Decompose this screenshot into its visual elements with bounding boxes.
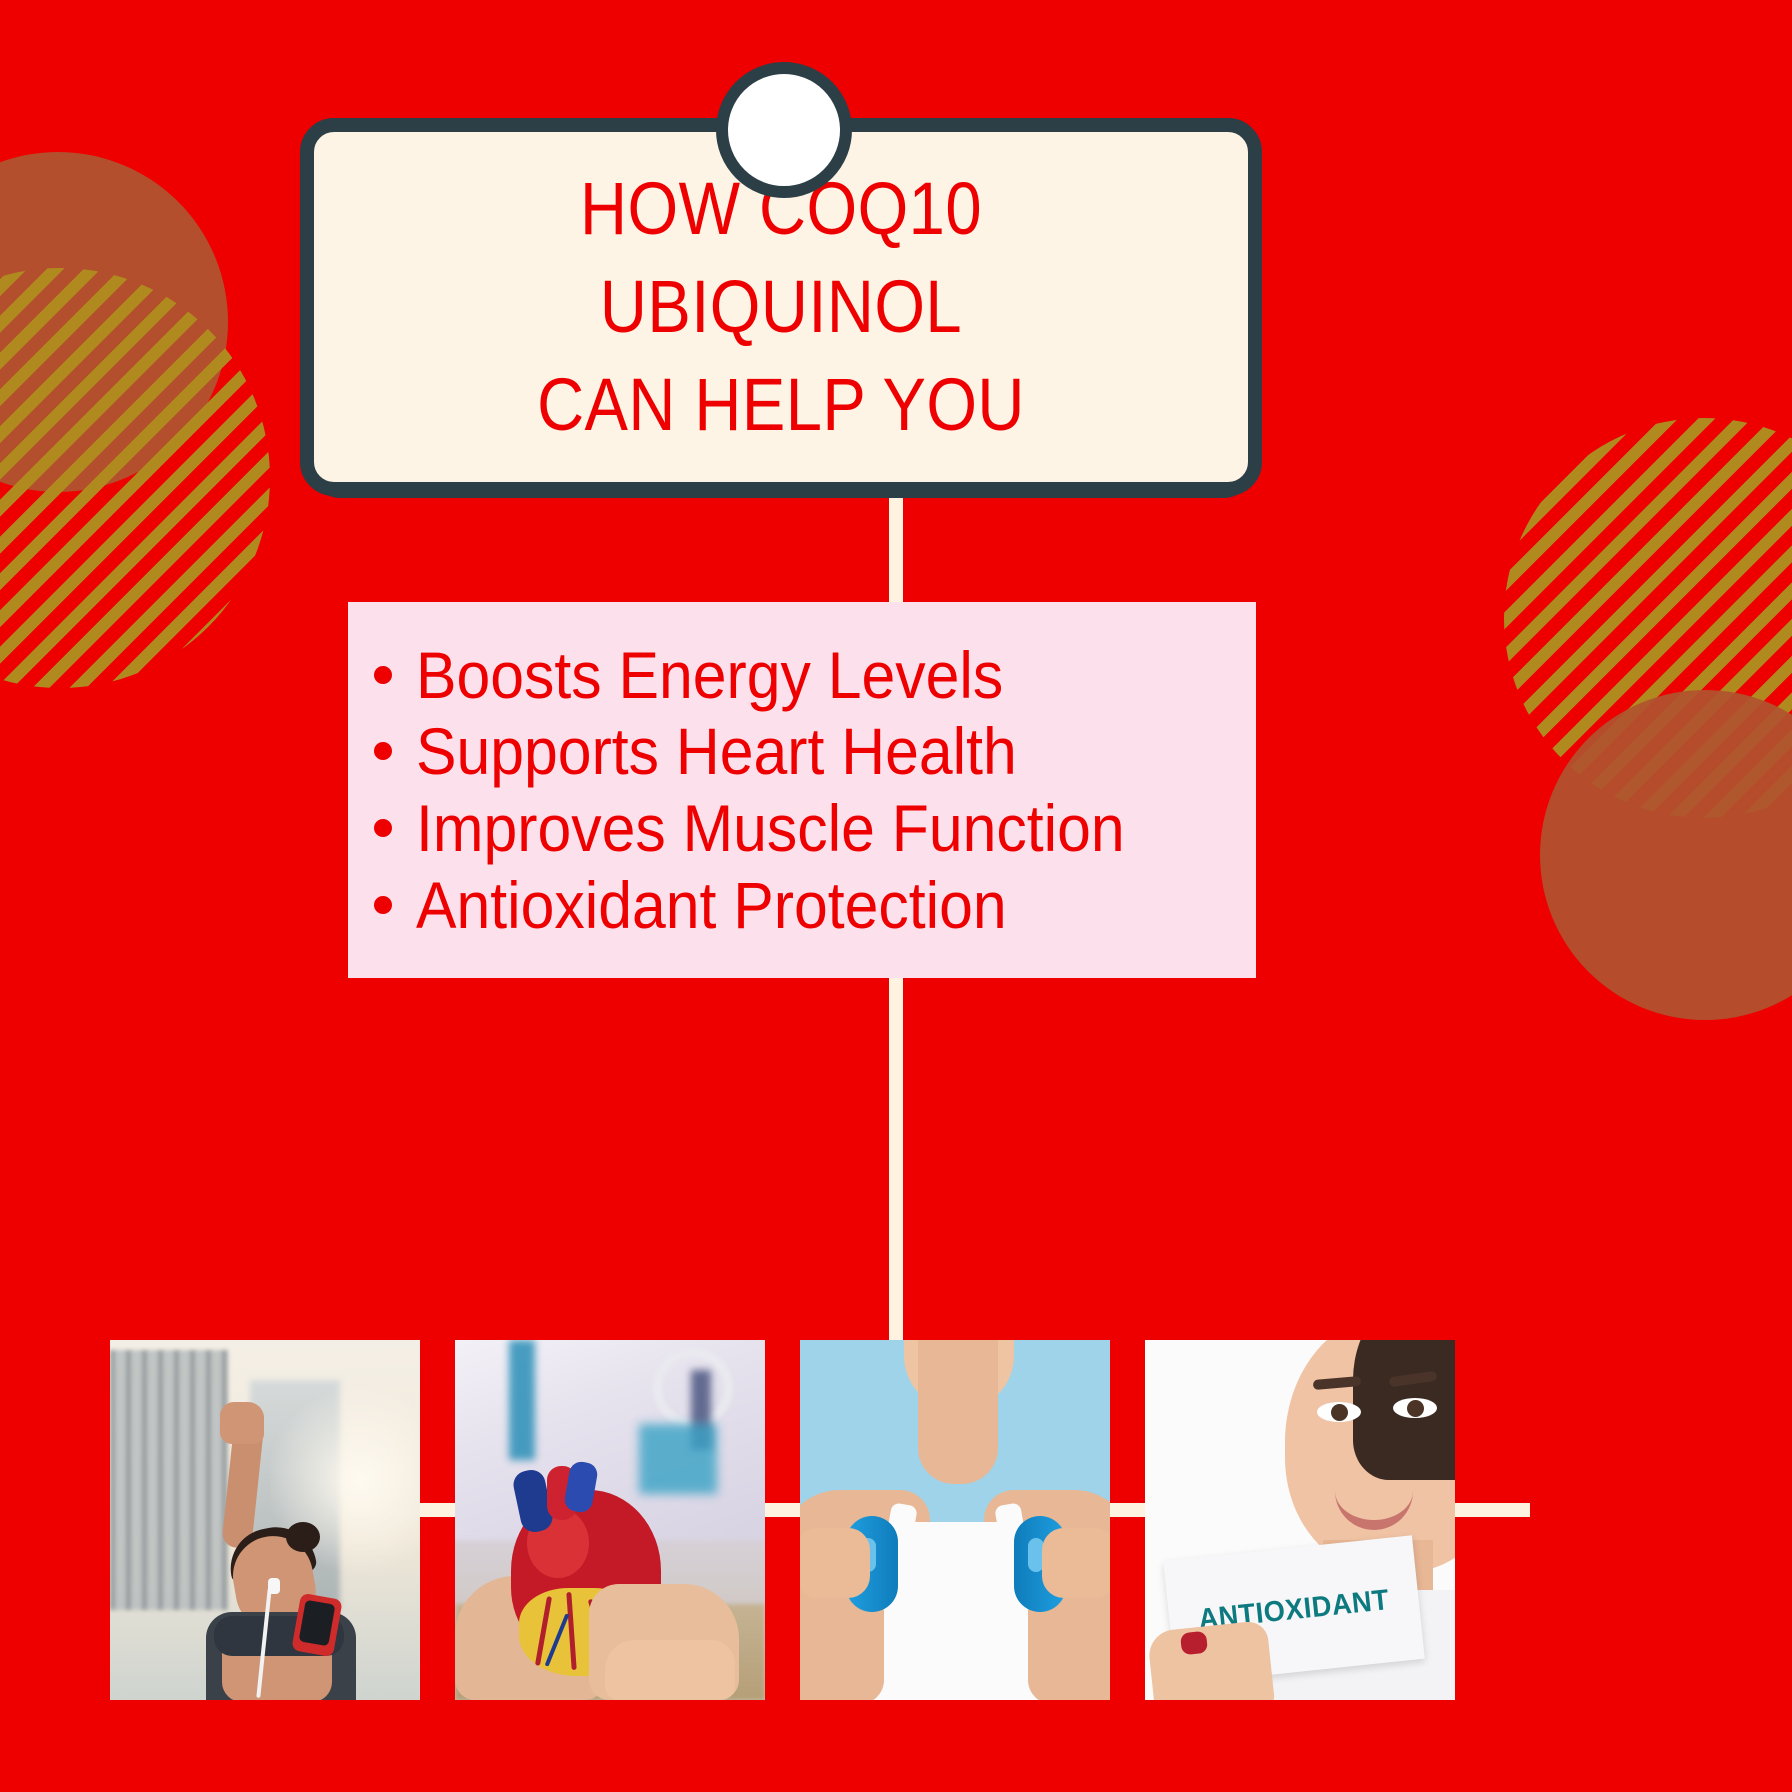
infographic-poster: HOW COQ10 UBIQUINOL CAN HELP YOU Boosts … bbox=[0, 0, 1792, 1792]
benefit-item-3: Improves Muscle Function bbox=[374, 790, 1256, 867]
bullet-dot-icon bbox=[374, 742, 392, 760]
benefits-list: Boosts Energy Levels Supports Heart Heal… bbox=[348, 637, 1256, 943]
benefit-label: Supports Heart Health bbox=[416, 713, 1017, 790]
woman-lifting-dumbbells-photo bbox=[800, 1340, 1110, 1700]
woman-holding-antioxidant-card-photo: ANTIOXIDANT bbox=[1145, 1340, 1455, 1700]
decor-circle-striped-left bbox=[0, 268, 270, 688]
bullet-dot-icon bbox=[374, 666, 392, 684]
connector-line-header-to-list bbox=[889, 496, 903, 614]
photo-strip: ANTIOXIDANT bbox=[0, 1340, 1792, 1700]
page-title: HOW COQ10 UBIQUINOL CAN HELP YOU bbox=[370, 160, 1192, 453]
benefit-item-2: Supports Heart Health bbox=[374, 713, 1256, 790]
woman-cheering-energy-photo bbox=[110, 1340, 420, 1700]
circle-knob-icon bbox=[716, 62, 852, 198]
benefit-label: Boosts Energy Levels bbox=[416, 637, 1003, 714]
bullet-dot-icon bbox=[374, 819, 392, 837]
hands-holding-heart-model-photo bbox=[455, 1340, 765, 1700]
benefit-label: Antioxidant Protection bbox=[416, 867, 1007, 944]
benefits-list-box: Boosts Energy Levels Supports Heart Heal… bbox=[348, 602, 1256, 978]
bullet-dot-icon bbox=[374, 896, 392, 914]
benefit-label: Improves Muscle Function bbox=[416, 790, 1125, 867]
benefit-item-4: Antioxidant Protection bbox=[374, 867, 1256, 944]
benefit-item-1: Boosts Energy Levels bbox=[374, 637, 1256, 714]
